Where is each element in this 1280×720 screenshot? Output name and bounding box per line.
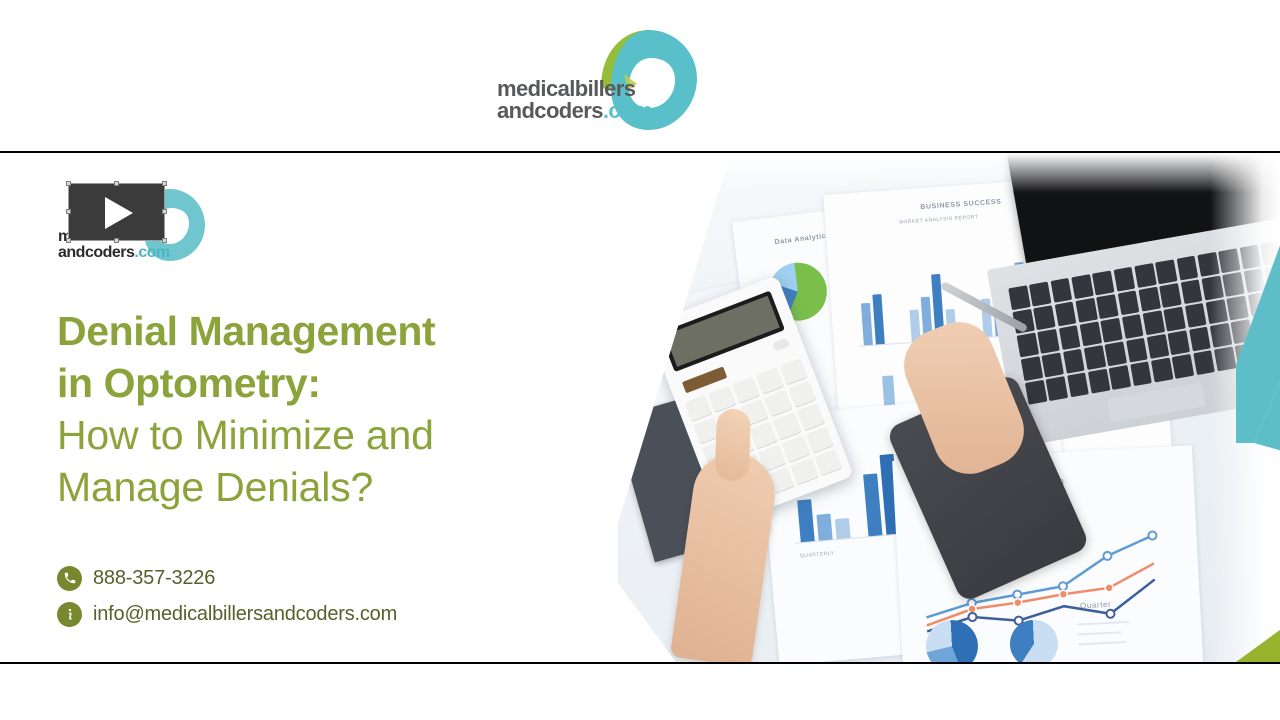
hero-photo: Data Analytics BUSINESS SUCCESS MARKET A… <box>618 153 1280 662</box>
chart-axis-label: QUARTERLY <box>800 550 835 559</box>
resize-handle[interactable] <box>114 181 119 186</box>
page-title: Denial Management in Optometry: How to M… <box>57 305 577 513</box>
brand-logo-icon: medicalbillers andcoders.com <box>497 26 702 134</box>
title-line-4: Manage Denials? <box>57 461 577 513</box>
photo-top-fade <box>618 153 1280 193</box>
contact-block: 888-357-3226 info@medicalbillersandcoder… <box>57 561 397 633</box>
svg-text:andcoders.com: andcoders.com <box>58 244 170 261</box>
resize-handle[interactable] <box>66 181 71 186</box>
chart-label: Data Analytics <box>774 232 831 246</box>
brand-logo[interactable]: medicalbillers andcoders.com <box>497 26 702 134</box>
divider-bottom <box>0 662 1280 664</box>
chart-label: Quarter <box>1080 600 1112 611</box>
resize-handle[interactable] <box>66 238 71 243</box>
svg-text:andcoders.com: andcoders.com <box>497 98 652 123</box>
resize-handle[interactable] <box>162 209 167 214</box>
pointing-finger <box>715 408 751 481</box>
contact-phone-row[interactable]: 888-357-3226 <box>57 561 397 595</box>
video-play-button[interactable] <box>68 183 165 241</box>
email-address: info@medicalbillersandcoders.com <box>93 603 397 626</box>
calculator-display <box>660 291 785 372</box>
info-icon <box>57 602 82 627</box>
main-band: medicalbillers andcoders.com Denial Mana <box>0 153 1280 662</box>
page-header: medicalbillers andcoders.com <box>0 0 1280 152</box>
legend-line <box>1078 641 1126 646</box>
phone-icon <box>57 566 82 591</box>
title-line-3: How to Minimize and <box>57 409 577 461</box>
photo-right-fade <box>1210 153 1280 662</box>
title-line-2: in Optometry: <box>57 357 577 409</box>
resize-handle[interactable] <box>66 209 71 214</box>
chart-sublabel: MARKET ANALYSIS REPORT <box>899 214 978 226</box>
left-column: medicalbillers andcoders.com Denial Mana <box>0 153 620 662</box>
calculator-power-button <box>772 338 790 352</box>
play-icon <box>105 197 133 229</box>
resize-handle[interactable] <box>162 238 167 243</box>
resize-handle[interactable] <box>114 238 119 243</box>
hero-photo-image: Data Analytics BUSINESS SUCCESS MARKET A… <box>618 153 1280 662</box>
title-line-1: Denial Management <box>57 305 577 357</box>
resize-handle[interactable] <box>162 181 167 186</box>
video-thumbnail-logo[interactable]: medicalbillers andcoders.com <box>58 181 218 263</box>
contact-email-row[interactable]: info@medicalbillersandcoders.com <box>57 597 397 631</box>
phone-number: 888-357-3226 <box>93 567 215 590</box>
slide-root: medicalbillers andcoders.com medicalbill… <box>0 0 1280 720</box>
legend-line <box>1077 631 1121 635</box>
